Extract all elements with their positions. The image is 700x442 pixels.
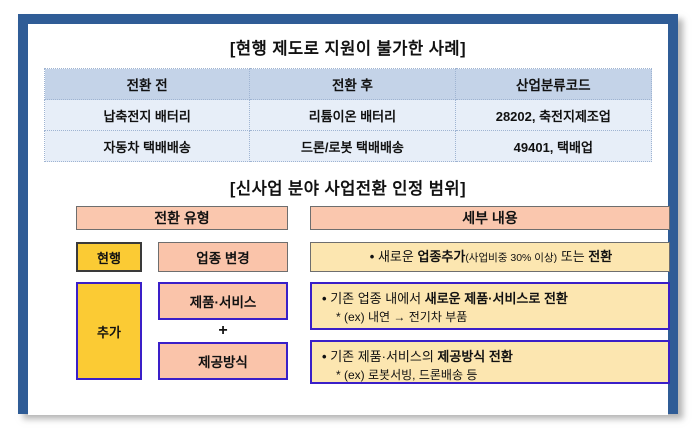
stage-box-add: 추가 xyxy=(76,282,142,380)
table-row: 자동차 택배배송 드론/로봇 택배배송 49401, 택배업 xyxy=(45,131,652,162)
bullet-icon: • xyxy=(370,249,375,264)
detail-row2-main-bold: 새로운 제품·서비스로 전환 xyxy=(425,291,568,306)
bullet-icon: • xyxy=(322,291,327,306)
table-header-industry-code: 산업분류코드 xyxy=(455,69,651,100)
table-cell-before: 납축전지 배터리 xyxy=(45,100,250,131)
section-two-title: [신사업 분야 사업전환 인정 범위] xyxy=(28,175,668,199)
table-cell-after: 드론/로봇 택배배송 xyxy=(250,131,455,162)
detail-row1-text-d: 또는 xyxy=(557,249,588,264)
table-cell-industry-code: 49401, 택배업 xyxy=(455,131,651,162)
type-box-delivery-method: 제공방식 xyxy=(158,342,288,380)
slide-frame: [현행 제도로 지원이 불가한 사례] 전환 전 전환 후 산업분류코드 납축전… xyxy=(18,14,678,414)
table-header-before: 전환 전 xyxy=(45,69,250,100)
case-table-container: 전환 전 전환 후 산업분류코드 납축전지 배터리 리튬이온 배터리 28202… xyxy=(44,68,652,162)
detail-row3-main-bold: 제공방식 전환 xyxy=(437,349,512,364)
slide-content: [현행 제도로 지원이 불가한 사례] 전환 전 전환 후 산업분류코드 납축전… xyxy=(28,35,668,415)
bullet-icon: • xyxy=(322,349,327,364)
column-header-detail: 세부 내용 xyxy=(310,206,670,230)
stage-box-current: 현행 xyxy=(76,242,142,272)
table-header-after: 전환 후 xyxy=(250,69,455,100)
detail-row1-text-e: 전환 xyxy=(588,249,612,264)
detail-row1-text-a: 새로운 xyxy=(378,249,418,264)
plus-connector: + xyxy=(158,320,288,342)
scope-diagram: 전환 유형 세부 내용 현행 추가 업종 변경 제품·서비스 + 제공방식 • … xyxy=(28,206,668,384)
column-header-type: 전환 유형 xyxy=(76,206,288,230)
detail-row2-main-a: 기존 업종 내에서 xyxy=(330,291,425,306)
table-cell-before: 자동차 택배배송 xyxy=(45,131,250,162)
detail-row2-example: * (ex) 내연 → 전기차 부품 xyxy=(322,309,660,326)
detail-box-row3: • 기존 제품·서비스의 제공방식 전환 * (ex) 로봇서빙, 드론배송 등 xyxy=(310,340,670,384)
detail-row3-main-a: 기존 제품·서비스의 xyxy=(330,349,437,364)
case-table: 전환 전 전환 후 산업분류코드 납축전지 배터리 리튬이온 배터리 28202… xyxy=(44,68,652,162)
detail-box-row2: • 기존 업종 내에서 새로운 제품·서비스로 전환 * (ex) 내연 → 전… xyxy=(310,282,670,330)
table-cell-industry-code: 28202, 축전지제조업 xyxy=(455,100,651,131)
detail-box-row1: • 새로운 업종추가(사업비중 30% 이상) 또는 전환 xyxy=(310,242,670,272)
type-box-product-service: 제품·서비스 xyxy=(158,282,288,320)
detail-row1-text-small: (사업비중 30% 이상) xyxy=(465,252,557,264)
table-cell-after: 리튬이온 배터리 xyxy=(250,100,455,131)
table-row: 납축전지 배터리 리튬이온 배터리 28202, 축전지제조업 xyxy=(45,100,652,131)
detail-row3-example: * (ex) 로봇서빙, 드론배송 등 xyxy=(322,367,660,384)
detail-row1-text-bold: 업종추가 xyxy=(417,249,465,264)
table-header-row: 전환 전 전환 후 산업분류코드 xyxy=(45,69,652,100)
type-box-industry-change: 업종 변경 xyxy=(158,242,288,272)
section-one-title: [현행 제도로 지원이 불가한 사례] xyxy=(28,35,668,59)
